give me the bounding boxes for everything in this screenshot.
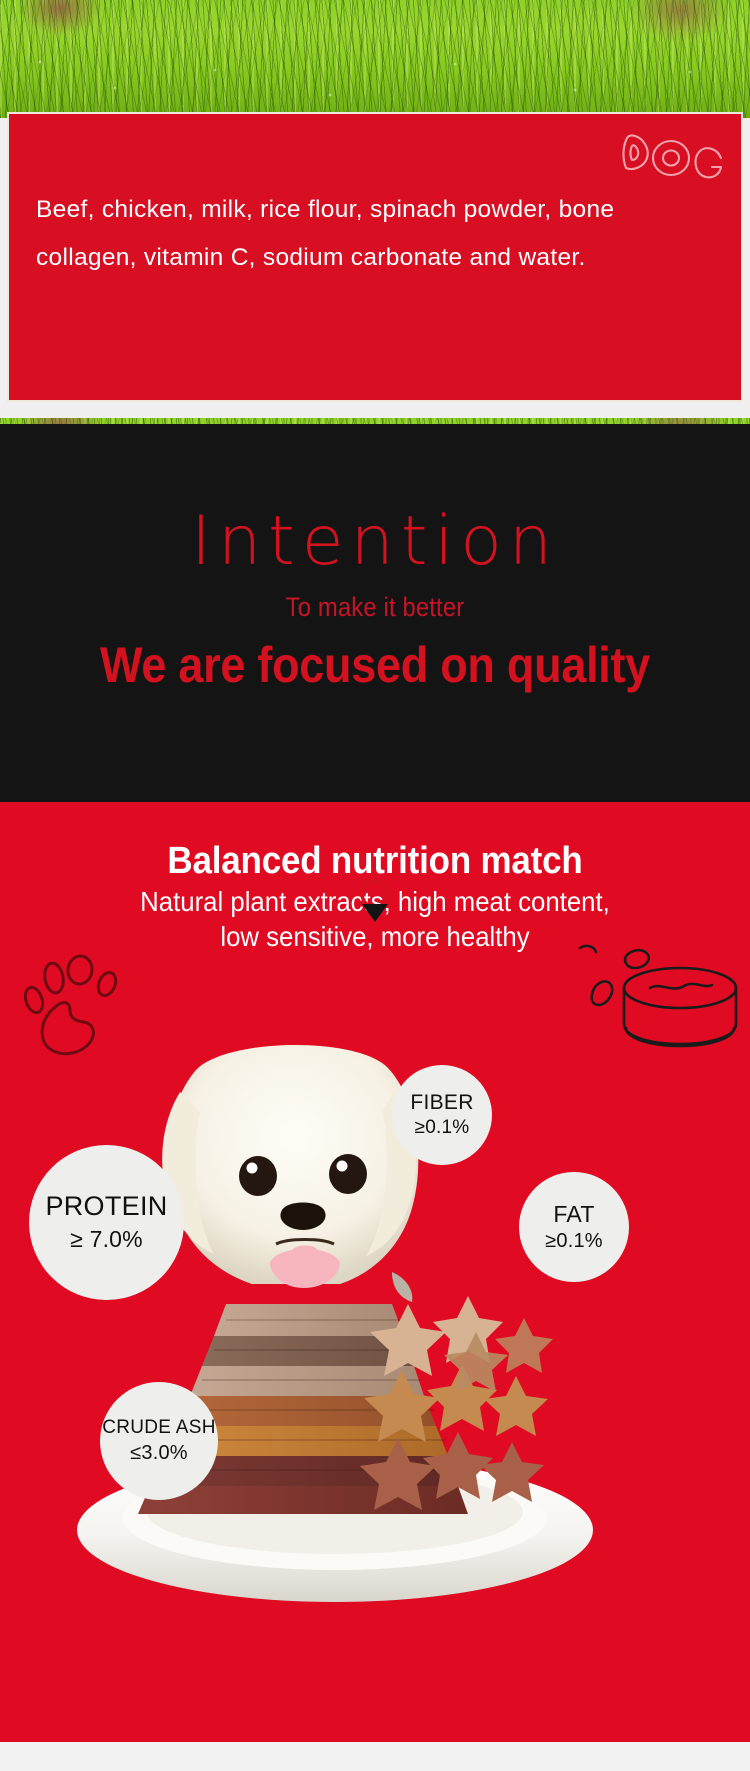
nutrient-badge-value: ≤3.0% [130, 1441, 188, 1465]
ingredients-panel: Beef, chicken, milk, rice flour, spinach… [7, 112, 743, 402]
footer-strip [0, 1742, 750, 1771]
nutrient-badge-fiber: FIBER ≥0.1% [392, 1065, 492, 1165]
nutrient-badge-name: PROTEIN [45, 1191, 167, 1222]
intention-subtitle: To make it better [45, 592, 705, 623]
location-pin-icon [355, 878, 395, 928]
dog-doodle-icon [617, 128, 727, 188]
nutrient-badge-name: FAT [553, 1201, 594, 1227]
ingredients-text: Beef, chicken, milk, rice flour, spinach… [36, 186, 646, 282]
nutrition-title: Balanced nutrition match [30, 840, 720, 883]
intention-section: Intention To make it better We are focus… [0, 424, 750, 802]
product-photo [0, 952, 750, 1742]
nutrient-badge-protein: PROTEIN ≥ 7.0% [29, 1145, 184, 1300]
nutrient-badge-crude-ash: CRUDE ASH ≤3.0% [100, 1382, 218, 1500]
product-detail-page: Beef, chicken, milk, rice flour, spinach… [0, 0, 750, 1771]
dog-illustration [162, 1045, 418, 1302]
intention-tagline: We are focused on quality [38, 636, 713, 694]
grass-photo-band-top [0, 0, 750, 118]
nutrient-badge-name: FIBER [410, 1091, 473, 1115]
nutrient-badge-name: CRUDE ASH [102, 1417, 216, 1439]
nutrient-badge-value: ≥0.1% [415, 1117, 470, 1140]
nutrient-badge-value: ≥0.1% [545, 1229, 603, 1253]
grass-speckles [0, 0, 750, 118]
nutrient-badge-value: ≥ 7.0% [70, 1226, 143, 1254]
nutrient-badge-fat: FAT ≥0.1% [519, 1172, 629, 1282]
intention-title: Intention [0, 508, 750, 576]
